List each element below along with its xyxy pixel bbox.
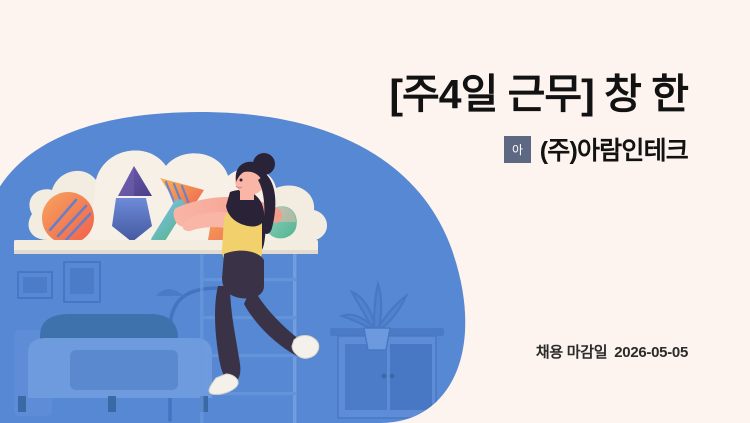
shelf-plank [14,240,318,254]
striped-sphere [42,192,94,244]
job-posting-card: [주4일 근무] 창 한 아 (주)아람인테크 채용 마감일2026-05-05 [0,0,750,423]
company-row[interactable]: 아 (주)아람인테크 [504,131,688,167]
deadline-date: 2026-05-05 [614,344,688,361]
company-name[interactable]: (주)아람인테크 [540,131,688,167]
illustration-panel [0,0,500,423]
page-title: [주4일 근무] 창 한 [68,70,688,118]
deadline-row: 채용 마감일2026-05-05 [536,341,688,362]
deadline-label: 채용 마감일 [536,344,607,361]
company-logo-badge: 아 [504,136,531,163]
